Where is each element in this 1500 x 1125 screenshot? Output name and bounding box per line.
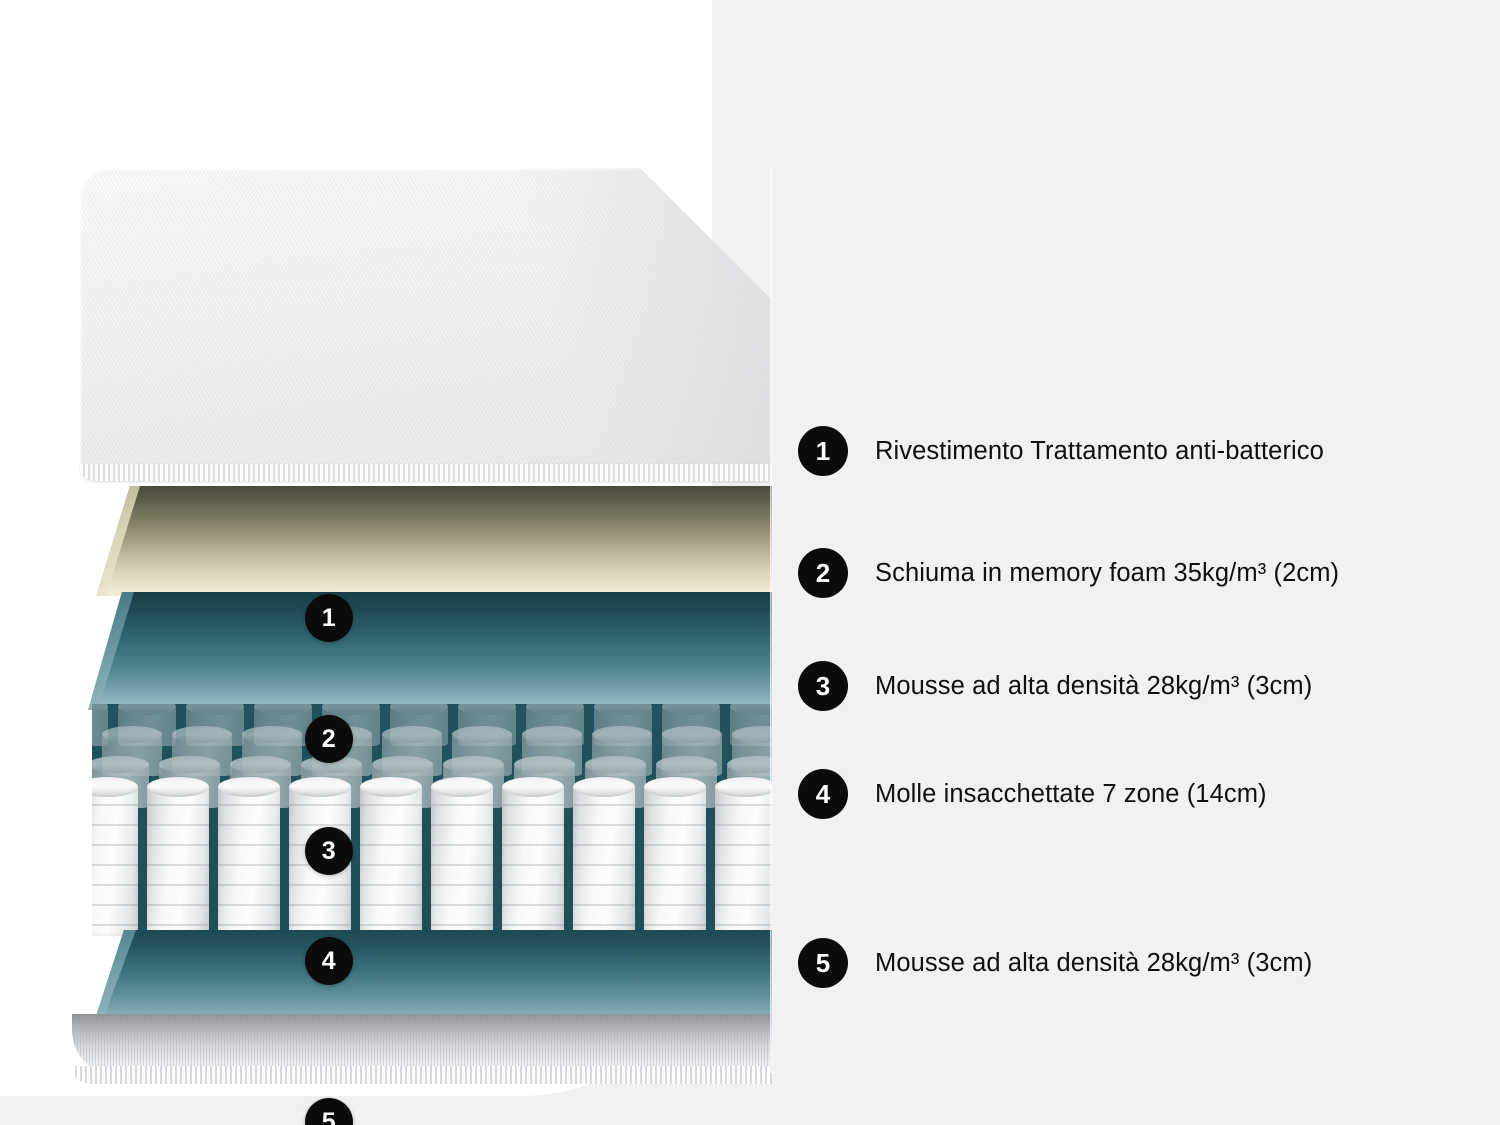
marker-badge-3-number: 3 — [322, 837, 336, 866]
mattress-base-panel — [72, 1014, 772, 1088]
pocket-spring-cap-back — [382, 726, 442, 743]
legend-badge-3: 3 — [798, 661, 848, 711]
pocket-spring-cap — [218, 777, 280, 797]
mousse-bottom-front-face — [94, 930, 772, 1022]
pocket-spring-cap-back — [594, 704, 652, 715]
pocket-spring-coil — [147, 786, 209, 936]
mattress-layers-diagram: 1 2 3 4 5 1 Rivestimento Trattamento ant… — [0, 0, 1500, 1125]
legend-badge-4-number: 4 — [816, 779, 830, 810]
pocket-spring-cap-back — [322, 704, 380, 715]
pocket-spring-coil — [92, 786, 138, 936]
layer-pocket-springs — [92, 704, 772, 936]
pocket-spring-cap-back — [172, 726, 232, 743]
pocket-spring-cap — [715, 777, 772, 797]
legend: 1 Rivestimento Trattamento anti-batteric… — [798, 0, 1458, 1125]
pocket-spring-cap — [289, 777, 351, 797]
layer-mousse-top — [88, 592, 772, 710]
legend-item-1[interactable]: 1 Rivestimento Trattamento anti-batteric… — [798, 426, 1324, 476]
pocket-spring-cap-back — [452, 726, 512, 743]
pocket-spring-coil — [502, 786, 564, 936]
pocket-spring-cap — [92, 777, 138, 797]
legend-badge-5-number: 5 — [816, 948, 830, 979]
cover-quilted-surface — [80, 168, 772, 468]
pocket-spring-cap — [360, 777, 422, 797]
legend-label-2: Schiuma in memory foam 35kg/m³ (2cm) — [875, 559, 1339, 588]
legend-badge-4: 4 — [798, 769, 848, 819]
pocket-spring-cap-back — [522, 726, 582, 743]
pocket-spring-cap-back — [592, 726, 652, 743]
pocket-spring-cap-back — [390, 704, 448, 715]
legend-item-2[interactable]: 2 Schiuma in memory foam 35kg/m³ (2cm) — [798, 548, 1339, 598]
pocket-spring-cap-back — [732, 726, 772, 743]
pocket-spring-cap — [431, 777, 493, 797]
memory-foam-front-face — [96, 486, 772, 596]
marker-badge-4-number: 4 — [322, 947, 336, 976]
pocket-spring-coil — [218, 786, 280, 936]
legend-badge-1: 1 — [798, 426, 848, 476]
pocket-spring-cap-back — [242, 726, 302, 743]
pocket-spring-cap — [573, 777, 635, 797]
marker-badge-1-number: 1 — [322, 604, 336, 633]
pocket-spring-cap-back — [526, 704, 584, 715]
marker-badge-2: 2 — [305, 715, 353, 763]
legend-item-5[interactable]: 5 Mousse ad alta densità 28kg/m³ (3cm) — [798, 938, 1312, 988]
pocket-spring-cap-back — [662, 704, 720, 715]
legend-label-3: Mousse ad alta densità 28kg/m³ (3cm) — [875, 672, 1312, 701]
mattress-illustration: 1 2 3 4 5 — [72, 168, 772, 1073]
layer-mousse-bottom — [94, 930, 772, 1022]
marker-badge-5-number: 5 — [322, 1108, 336, 1125]
marker-badge-2-number: 2 — [322, 725, 336, 754]
mousse-top-front-face — [88, 592, 772, 710]
marker-badge-4: 4 — [305, 937, 353, 985]
legend-badge-3-number: 3 — [816, 671, 830, 702]
marker-badge-1: 1 — [305, 594, 353, 642]
pocket-spring-cap — [644, 777, 706, 797]
pocket-spring-coil — [644, 786, 706, 936]
legend-label-1: Rivestimento Trattamento anti-batterico — [875, 437, 1324, 466]
spring-front-row — [92, 760, 772, 936]
pocket-spring-cap-back — [92, 704, 108, 715]
legend-badge-2: 2 — [798, 548, 848, 598]
pocket-spring-cap — [502, 777, 564, 797]
legend-badge-2-number: 2 — [816, 558, 830, 589]
pocket-spring-coil — [360, 786, 422, 936]
mattress-cut-edge — [770, 168, 774, 1073]
pocket-spring-cap-back — [662, 726, 722, 743]
pocket-spring-coil — [573, 786, 635, 936]
legend-badge-5: 5 — [798, 938, 848, 988]
pocket-spring-coil — [715, 786, 772, 936]
legend-item-4[interactable]: 4 Molle insacchettate 7 zone (14cm) — [798, 769, 1267, 819]
layer-memory-foam — [96, 486, 772, 596]
pocket-spring-cap-back — [458, 704, 516, 715]
legend-label-5: Mousse ad alta densità 28kg/m³ (3cm) — [875, 949, 1312, 978]
pocket-spring-cap — [147, 777, 209, 797]
pocket-spring-cap-back — [254, 704, 312, 715]
pocket-spring-cap-back — [186, 704, 244, 715]
cover-piping-edge — [80, 464, 772, 481]
legend-badge-1-number: 1 — [816, 436, 830, 467]
layer-cover — [80, 168, 772, 488]
pocket-spring-coil — [431, 786, 493, 936]
legend-label-4: Molle insacchettate 7 zone (14cm) — [875, 780, 1267, 809]
marker-badge-3: 3 — [305, 827, 353, 875]
legend-item-3[interactable]: 3 Mousse ad alta densità 28kg/m³ (3cm) — [798, 661, 1312, 711]
pocket-spring-cap-back — [118, 704, 176, 715]
base-piping-edge — [72, 1066, 772, 1084]
pocket-spring-cap-back — [102, 726, 162, 743]
pocket-spring-cap-back — [730, 704, 772, 715]
